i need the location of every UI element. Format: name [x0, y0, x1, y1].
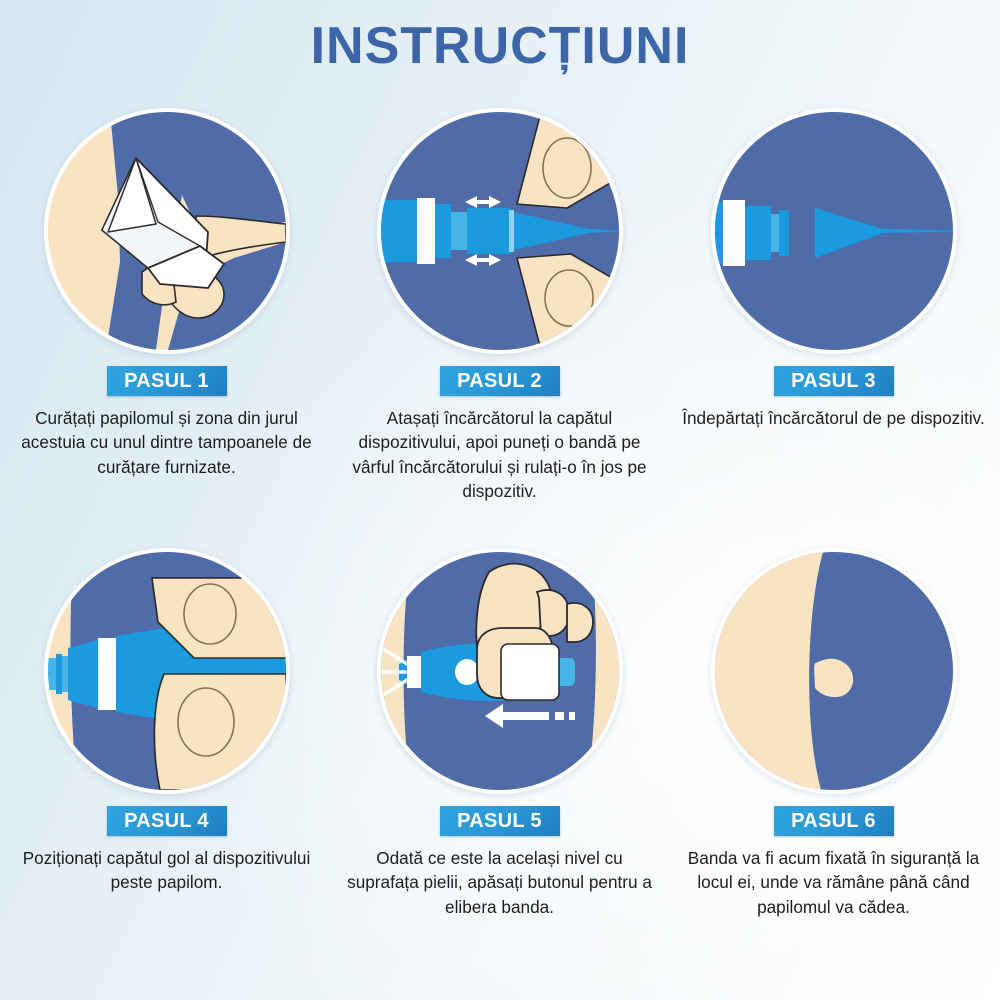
step-card-4: PASUL 4 Poziționați capătul gol al dispo… [0, 548, 333, 895]
step-caption-3: Îndepărtați încărcătorul de pe dispoziti… [675, 406, 993, 430]
step-caption-1: Curățați papilomul și zona din jurul ace… [8, 406, 326, 479]
step-5-illustration-wrap [377, 548, 623, 794]
step-badge-4: PASUL 4 [107, 806, 227, 836]
step-2-illustration-wrap [377, 108, 623, 354]
wipe-skin-tag-with-pad-icon [44, 108, 290, 354]
step-badge-3: PASUL 3 [774, 366, 894, 396]
step-caption-4: Poziționați capătul gol al dispozitivulu… [8, 846, 326, 895]
step-1-illustration-wrap [44, 108, 290, 354]
attach-loader-to-device-icon [377, 108, 623, 354]
step-caption-6: Banda va fi acum fixată în siguranță la … [675, 846, 993, 919]
press-button-release-band-icon [377, 548, 623, 794]
step-card-2: PASUL 2 Atașați încărcătorul la capătul … [333, 108, 666, 504]
band-secured-on-skin-tag-icon [711, 548, 957, 794]
step-badge-5: PASUL 5 [440, 806, 560, 836]
step-badge-6: PASUL 6 [774, 806, 894, 836]
step-card-1: PASUL 1 Curățați papilomul și zona din j… [0, 108, 333, 479]
step-badge-2: PASUL 2 [440, 366, 560, 396]
position-device-over-skin-tag-icon [44, 548, 290, 794]
step-caption-5: Odată ce este la același nivel cu supraf… [341, 846, 659, 919]
step-card-6: PASUL 6 Banda va fi acum fixată în sigur… [667, 548, 1000, 919]
step-card-3: PASUL 3 Îndepărtați încărcătorul de pe d… [667, 108, 1000, 430]
step-4-illustration-wrap [44, 548, 290, 794]
step-caption-2: Atașați încărcătorul la capătul dispozit… [341, 406, 659, 504]
step-6-illustration-wrap [711, 548, 957, 794]
remove-loader-from-device-icon [711, 108, 957, 354]
step-badge-1: PASUL 1 [107, 366, 227, 396]
step-3-illustration-wrap [711, 108, 957, 354]
step-card-5: PASUL 5 Odată ce este la același nivel c… [333, 548, 666, 919]
page-title: INSTRUCȚIUNI [0, 16, 1000, 76]
instructions-page: INSTRUCȚIUNI PASUL 1 C [0, 0, 1000, 1000]
